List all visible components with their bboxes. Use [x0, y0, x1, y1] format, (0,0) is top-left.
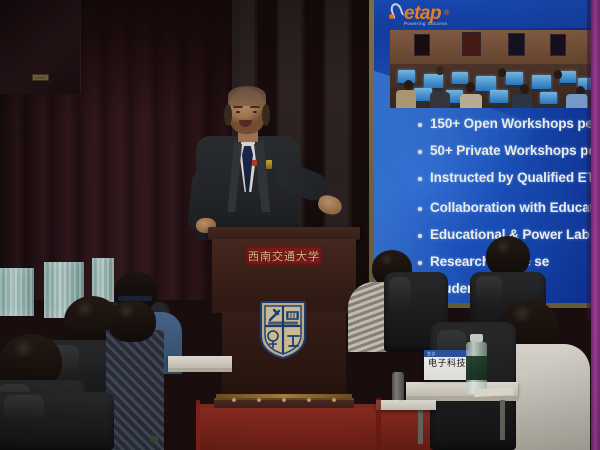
etap-mark-icon: [388, 3, 401, 23]
etap-tagline: Powering Success: [404, 21, 447, 26]
bullet-item: 50+ Private Workshops per: [418, 143, 592, 159]
speaker-hair-left: [224, 104, 232, 126]
table-edge: [168, 368, 232, 372]
audience-chair-front: [0, 392, 114, 450]
bullet-text: 50+ Private Workshops per: [430, 143, 592, 159]
audience-head: [108, 300, 156, 342]
bottle-cap: [470, 334, 483, 342]
speaker-eye-left: [236, 111, 240, 113]
bullet-item: Instructed by Qualified ETA: [418, 170, 592, 186]
podium-plaque-text: 西南交通大学: [248, 248, 320, 264]
bullet-dot-icon: [418, 234, 422, 238]
wall-speaker-label: CONT: [33, 74, 49, 81]
speaker-lapel-pin: [266, 160, 272, 169]
name-card-name: 电子科技: [424, 357, 470, 372]
name-card-header-text: 会议: [427, 351, 436, 357]
speaker-eye-right: [253, 111, 257, 113]
name-card-header: 会议: [424, 350, 470, 357]
bottle-label: [466, 356, 487, 380]
slide-photo-training-lab: [390, 30, 592, 108]
bullet-dot-icon: [418, 123, 422, 127]
photo-scene: CONT etap ® Powering Success: [0, 0, 600, 450]
audience-head: [486, 236, 530, 276]
speaker-lapel-pin-red: [252, 160, 257, 166]
bullet-dot-icon: [418, 261, 422, 265]
bullet-item: Collaboration with Educati: [418, 200, 592, 216]
bullet-dot-icon: [418, 207, 422, 211]
university-crest-icon: [259, 300, 307, 360]
stanchion-rope: [196, 400, 200, 450]
etap-logo: etap ® Powering Success: [388, 1, 449, 25]
bullet-text: 150+ Open Workshops per: [430, 116, 592, 132]
audience-patterned-blouse: [106, 330, 164, 450]
audience-table-mid: [376, 400, 436, 410]
etap-logo-text: etap: [404, 4, 441, 23]
bullet-dot-icon: [418, 150, 422, 154]
etap-registered-mark: ®: [444, 10, 449, 17]
red-carpet: [196, 408, 436, 450]
podium-studs: [232, 398, 336, 403]
speaker-brow-right: [250, 106, 260, 108]
name-card: 会议 电子科技: [424, 350, 470, 380]
bullet-dot-icon: [418, 177, 422, 181]
edge-strip-magenta: [591, 0, 600, 450]
stanchion-rope-right: [376, 398, 381, 450]
bullet-item: 150+ Open Workshops per: [418, 116, 592, 132]
speaker-brow-left: [233, 106, 243, 108]
audience-table-left: [168, 356, 232, 368]
table-leg: [500, 400, 505, 440]
light-panel-1: [0, 268, 34, 316]
bullet-text: Instructed by Qualified ETA: [430, 170, 592, 186]
speaker-hair: [228, 86, 266, 106]
bullet-text: Collaboration with Educati: [430, 200, 592, 216]
podium-plaque: 西南交通大学: [246, 246, 322, 265]
chair-knob: [150, 436, 158, 442]
speaker-hair-right: [262, 104, 270, 126]
water-bottle-secondary: [392, 372, 404, 402]
